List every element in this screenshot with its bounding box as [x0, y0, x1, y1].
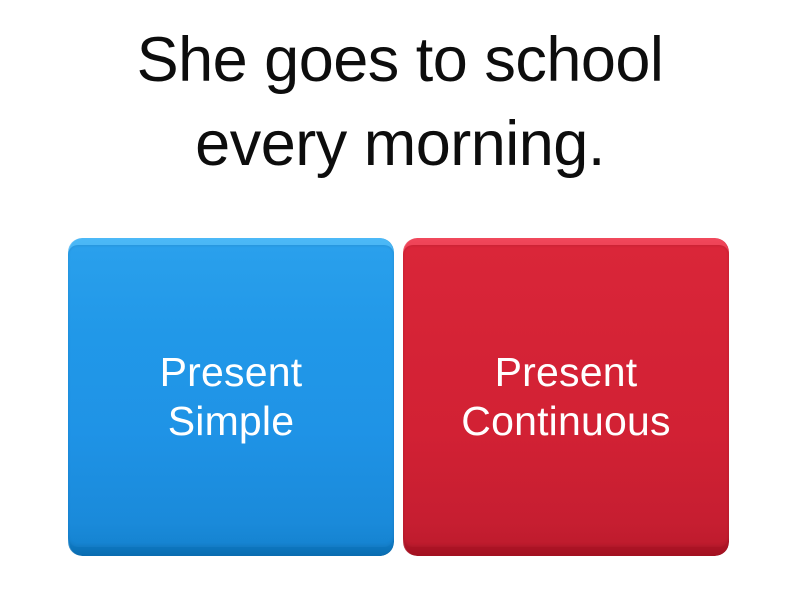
answer-option-label: Present Simple — [150, 348, 313, 446]
quiz-stage: She goes to school every morning. Presen… — [0, 0, 800, 600]
question-text: She goes to school every morning. — [50, 18, 750, 186]
question-area: She goes to school every morning. — [0, 18, 800, 208]
answer-option-present-simple[interactable]: Present Simple — [68, 238, 394, 556]
answer-options-row: Present Simple Present Continuous — [68, 238, 729, 556]
answer-option-present-continuous[interactable]: Present Continuous — [403, 238, 729, 556]
answer-option-label: Present Continuous — [451, 348, 680, 446]
